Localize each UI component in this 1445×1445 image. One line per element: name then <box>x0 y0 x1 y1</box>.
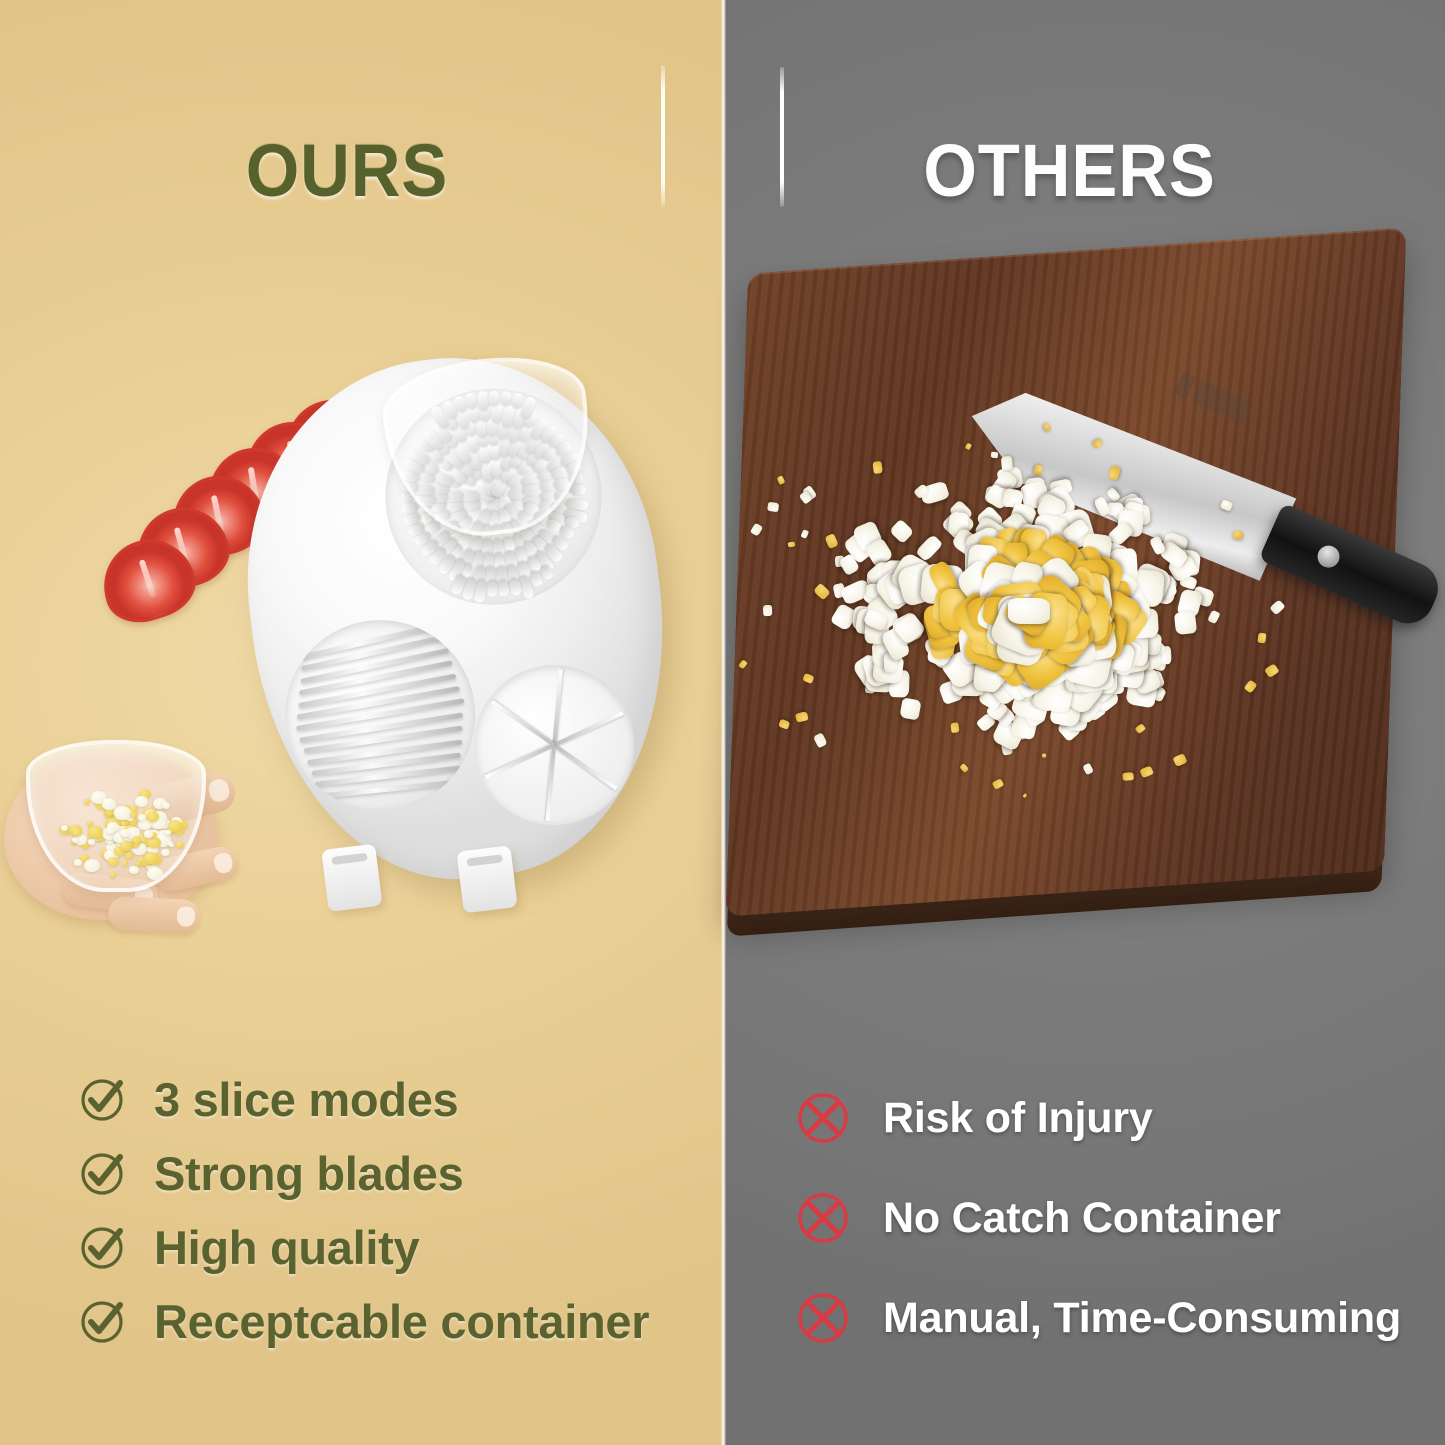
egg-crumb <box>1123 772 1134 781</box>
panel-divider <box>721 0 726 1445</box>
pro-row: High quality <box>78 1210 649 1284</box>
egg-crumb <box>802 673 815 684</box>
egg-crumb <box>1207 610 1220 625</box>
con-label: No Catch Container <box>883 1194 1281 1243</box>
egg-piece <box>889 519 915 545</box>
egg-crumb <box>1001 456 1013 471</box>
con-row: No Catch Container <box>795 1168 1401 1268</box>
egg-crumb <box>872 461 883 474</box>
diced-egg-crumb <box>72 828 82 836</box>
diced-egg-crumb <box>110 872 117 877</box>
egg-crumb <box>1233 531 1244 540</box>
egg-crumb <box>767 502 779 512</box>
con-row: Manual, Time-Consuming <box>795 1268 1401 1368</box>
diced-egg-crumb <box>144 830 153 837</box>
chopped-egg-pile <box>790 440 1260 770</box>
diced-egg-crumb <box>169 843 174 847</box>
accent-line-right <box>780 67 784 207</box>
egg-crumb <box>787 541 794 547</box>
egg-crumb <box>991 452 999 459</box>
pro-label: 3 slice modes <box>154 1072 458 1127</box>
check-circle-icon <box>78 1296 128 1346</box>
egg-crumb <box>1173 753 1188 767</box>
egg-crumb <box>1108 466 1121 481</box>
con-label: Risk of Injury <box>883 1094 1153 1143</box>
dice-pin <box>570 484 586 496</box>
pro-row: Strong blades <box>78 1136 649 1210</box>
diced-egg-crumb <box>125 852 134 859</box>
check-circle-icon <box>78 1148 128 1198</box>
diced-egg-crumb <box>84 799 90 804</box>
egg-crumb <box>1257 632 1266 643</box>
diced-egg-crumb <box>88 826 103 838</box>
egg-crumb <box>795 710 809 722</box>
diced-egg-crumb <box>147 867 163 880</box>
egg-crumb <box>813 732 828 748</box>
egg-crumb <box>1033 464 1043 476</box>
diced-egg-crumb <box>108 857 119 866</box>
egg-crumb <box>950 722 959 733</box>
diced-egg-crumb <box>106 827 114 834</box>
diced-egg-crumb <box>122 861 127 865</box>
ours-panel: OURS 3 slice modes Stro <box>0 0 722 1445</box>
con-label: Manual, Time-Consuming <box>883 1294 1401 1343</box>
pro-label: Receptcable container <box>154 1294 649 1349</box>
diced-egg-crumb <box>134 843 139 847</box>
cons-list: Risk of Injury No Catch Container Manual… <box>795 1068 1401 1368</box>
diced-egg-crumb <box>102 798 116 810</box>
diced-egg-crumb <box>165 830 171 835</box>
egg-crumb <box>1220 500 1234 513</box>
slicer-clip <box>321 844 382 912</box>
ours-title: OURS <box>11 128 682 213</box>
diced-egg-crumb <box>176 842 184 849</box>
egg-crumb <box>824 533 839 549</box>
diced-egg-crumb <box>74 859 82 866</box>
egg-piece <box>1174 611 1197 635</box>
diced-egg-crumb <box>162 802 171 809</box>
wedge-spoke <box>484 743 555 779</box>
accent-line-left <box>661 65 665 207</box>
pro-label: Strong blades <box>154 1146 463 1201</box>
con-row: Risk of Injury <box>795 1068 1401 1168</box>
diced-egg-crumb <box>84 859 101 873</box>
cross-circle-icon <box>795 1090 851 1146</box>
egg-crumb <box>813 583 830 600</box>
egg-piece <box>899 697 922 720</box>
diced-egg-crumb <box>161 849 170 856</box>
wedge-spoke <box>491 700 556 747</box>
dice-pin <box>486 581 497 597</box>
wedge-spoke <box>546 745 557 821</box>
wedge-spoke <box>552 669 563 745</box>
knife-brand-etching <box>1173 372 1252 425</box>
slicer-clip <box>456 845 517 913</box>
dice-pin <box>497 580 510 597</box>
pro-label: High quality <box>154 1220 419 1275</box>
pros-list: 3 slice modes Strong blades <box>78 1062 649 1358</box>
pro-row: Receptcable container <box>78 1284 649 1358</box>
egg-crumb <box>763 605 772 616</box>
diced-egg-crumb <box>129 866 139 874</box>
check-circle-icon <box>78 1222 128 1272</box>
diced-egg-crumb <box>132 836 142 844</box>
egg-crumb <box>1135 723 1146 734</box>
egg-crumb <box>1042 753 1046 758</box>
diced-egg-crumb <box>135 796 148 807</box>
hand-holding-cup-photo <box>4 726 242 946</box>
wedge-spoke <box>553 743 618 790</box>
egg-slicer-product-photo <box>222 335 692 901</box>
egg-piece <box>1008 598 1050 624</box>
diced-egg-crumb <box>88 839 95 844</box>
diced-egg-crumb <box>147 837 161 848</box>
check-circle-icon <box>78 1074 128 1124</box>
cross-circle-icon <box>795 1190 851 1246</box>
diced-egg-crumb <box>144 852 158 863</box>
diced-egg-crumb <box>120 841 132 851</box>
cross-circle-icon <box>795 1290 851 1346</box>
comparison-infographic: OURS 3 slice modes Stro <box>0 0 1445 1445</box>
wedge-spoke <box>553 711 624 747</box>
handle-rivet <box>1314 542 1343 571</box>
egg-crumb <box>964 442 971 450</box>
egg-crumb <box>801 529 810 539</box>
finger <box>107 896 201 935</box>
egg-crumb <box>1244 679 1258 693</box>
knife-handle <box>1258 503 1445 632</box>
egg-crumb <box>1092 439 1103 450</box>
diced-egg-crumb <box>135 862 140 866</box>
pro-row: 3 slice modes <box>78 1062 649 1136</box>
diced-egg-crumb <box>130 812 137 818</box>
others-title: OTHERS <box>735 128 1404 213</box>
diced-egg-crumb <box>114 806 131 820</box>
